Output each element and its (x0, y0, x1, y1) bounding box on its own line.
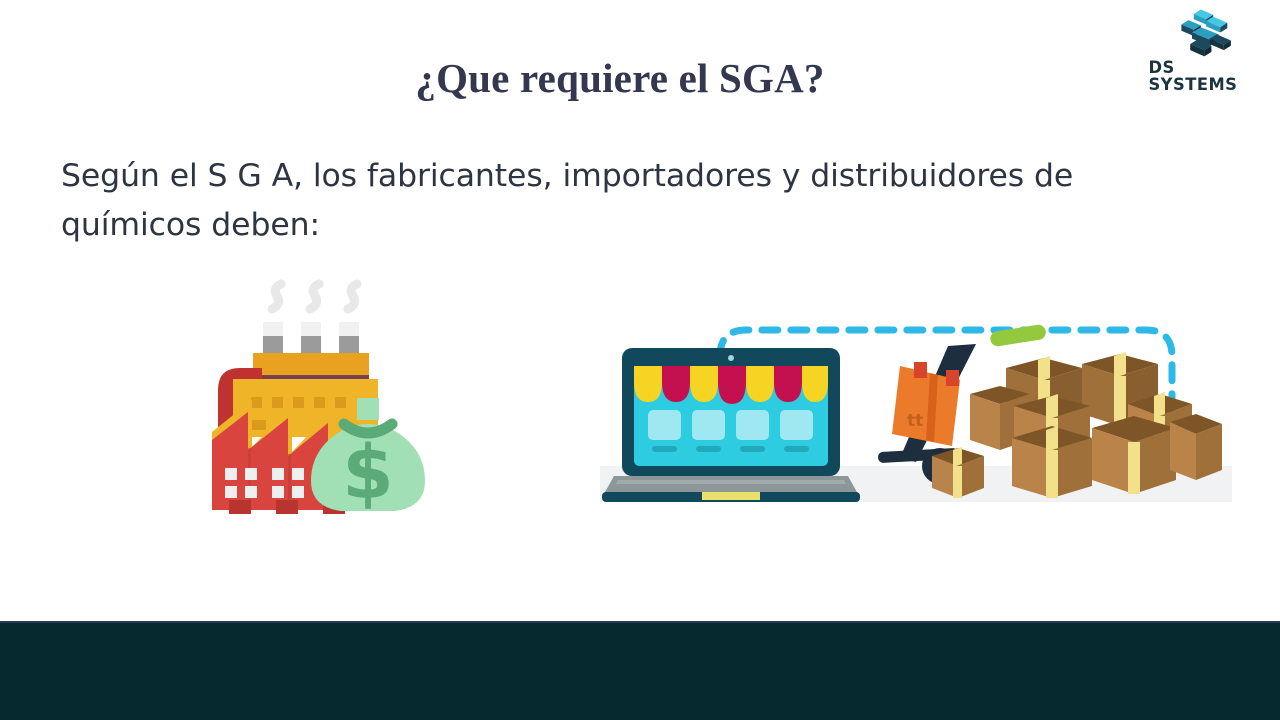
factory-illustration: $ (196, 272, 444, 520)
body-paragraph: Según el S G A, los fabricantes, importa… (61, 152, 1181, 250)
factory-with-money-bag-graphic: $ (196, 272, 444, 520)
ecommerce-illustration: tt (600, 308, 1232, 520)
slide-canvas: DS SYSTEMS ¿Que requiere el SGA? Según e… (0, 0, 1280, 720)
footer-bar (0, 621, 1280, 720)
ds-systems-blocks-icon (1170, 6, 1244, 59)
page-title: ¿Que requiere el SGA? (0, 54, 1240, 102)
svg-text:tt: tt (907, 411, 923, 431)
svg-text:$: $ (342, 430, 394, 516)
store-laptop-handtruck-boxes-graphic: tt (600, 308, 1232, 520)
